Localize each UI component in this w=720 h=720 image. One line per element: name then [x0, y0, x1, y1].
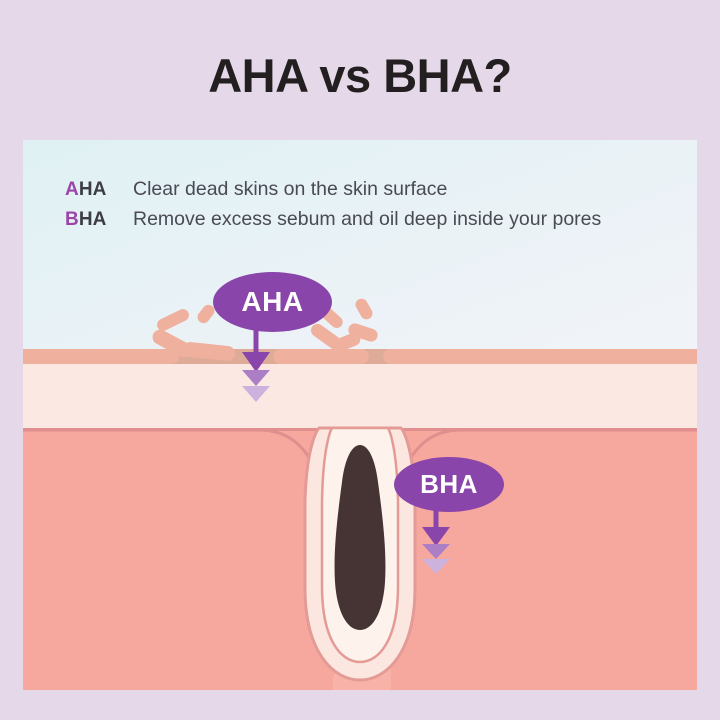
legend-code-bha-rest: HA	[79, 209, 107, 230]
layer-dermis-boundary	[23, 428, 697, 431]
dermis-cell	[685, 532, 697, 578]
aha-arrow-head	[242, 352, 270, 372]
badge-bha[interactable]: BHA	[394, 457, 504, 512]
legend-desc-bha: Remove excess sebum and oil deep inside …	[133, 208, 601, 231]
legend-desc-aha: Clear dead skins on the skin surface	[133, 178, 447, 201]
legend-code-aha: AHA	[65, 179, 133, 201]
dermis-cell	[639, 458, 697, 504]
legend-code-bha-highlight: B	[65, 209, 79, 230]
aha-chevron-1	[242, 370, 270, 386]
page-title: AHA vs BHA?	[0, 48, 720, 103]
dermis-cell	[111, 458, 183, 504]
dermis-cell	[199, 606, 271, 652]
layer-epidermis	[23, 364, 697, 429]
dead-skin-flake	[273, 349, 369, 364]
dermis-cell	[157, 668, 229, 690]
bha-chevron-1	[422, 544, 450, 559]
legend: AHA Clear dead skins on the skin surface…	[65, 178, 601, 238]
dermis-cell	[111, 606, 183, 652]
legend-code-bha: BHA	[65, 209, 133, 231]
dermis-cell	[551, 606, 623, 652]
dermis-cell	[597, 532, 669, 578]
dermis-cell	[551, 458, 623, 504]
dermis-cell	[287, 458, 359, 504]
dermis-cell	[509, 668, 581, 690]
bha-chevron-2	[422, 559, 450, 574]
legend-code-aha-rest: HA	[79, 179, 107, 200]
dermis-cell	[23, 606, 95, 652]
aha-chevron-2	[242, 386, 270, 402]
dermis-cell	[287, 606, 359, 652]
dead-skin-flake	[383, 349, 697, 364]
dermis-cell	[463, 606, 535, 652]
dermis-cell	[333, 532, 405, 578]
legend-item-aha: AHA Clear dead skins on the skin surface	[65, 178, 601, 201]
dermis-cell	[157, 532, 229, 578]
dermis-cell	[421, 668, 493, 690]
dermis-cell	[333, 668, 405, 690]
layer-air	[23, 140, 697, 350]
dermis-cell	[639, 606, 697, 652]
legend-item-bha: BHA Remove excess sebum and oil deep ins…	[65, 208, 601, 231]
dermis-cell	[245, 532, 317, 578]
dermis-cell	[375, 606, 447, 652]
badge-aha[interactable]: AHA	[213, 272, 332, 332]
dermis-cell	[69, 668, 141, 690]
legend-code-aha-highlight: A	[65, 179, 79, 200]
skin-cross-section-panel: AHA BHA AHA Clear dead skins on the skin…	[23, 140, 697, 690]
dermis-cell	[199, 458, 271, 504]
dermis-cell	[23, 458, 95, 504]
dermis-cell	[509, 532, 581, 578]
dermis-cell	[69, 532, 141, 578]
dermis-cell	[245, 668, 317, 690]
dead-skin-flake	[23, 349, 179, 364]
infographic-canvas: AHA vs BHA?	[0, 0, 720, 720]
dermis-cell	[23, 668, 53, 690]
dermis-cell	[597, 668, 669, 690]
dermis-cell	[23, 532, 53, 578]
